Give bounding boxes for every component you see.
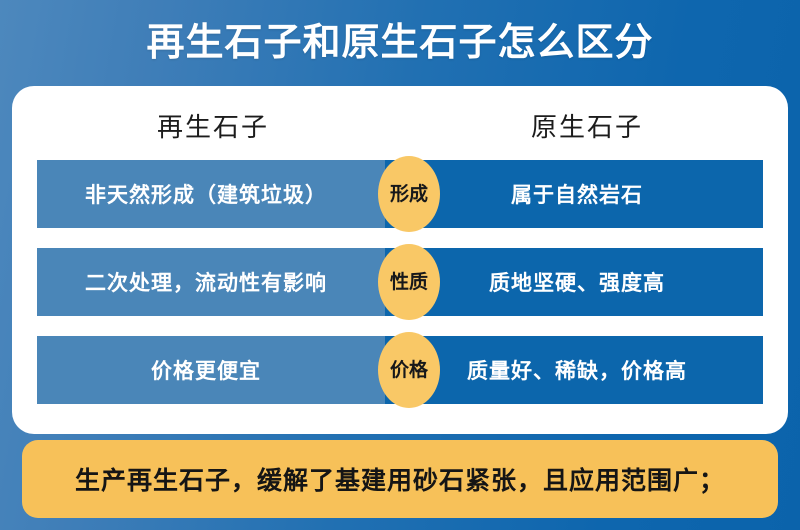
row-category-badge: 性质 <box>378 244 440 320</box>
row-category-badge: 价格 <box>378 332 440 408</box>
row-left-value: 价格更便宜 <box>37 336 385 404</box>
row-right-value: 质量好、稀缺，价格高 <box>385 336 763 404</box>
infographic-poster: 再生石子和原生石子怎么区分 再生石子 原生石子 非天然形成（建筑垃圾） 形成 属… <box>0 0 800 530</box>
row-right-value: 属于自然岩石 <box>385 160 763 228</box>
row-category-label: 价格 <box>390 361 428 380</box>
poster-title-bar: 再生石子和原生石子怎么区分 <box>0 12 800 74</box>
row-category-label: 性质 <box>390 273 428 292</box>
comparison-column-headers: 再生石子 原生石子 <box>12 100 788 150</box>
row-category-label: 形成 <box>390 185 428 204</box>
row-right-value: 质地坚硬、强度高 <box>385 248 763 316</box>
footer-banner-text: 生产再生石子，缓解了基建用砂石紧张，且应用范围广； <box>75 461 725 497</box>
row-left-value: 非天然形成（建筑垃圾） <box>37 160 385 228</box>
comparison-card: 再生石子 原生石子 非天然形成（建筑垃圾） 形成 属于自然岩石 二次处理，流动性… <box>12 86 788 434</box>
column-header-recycled: 再生石子 <box>38 100 388 150</box>
comparison-row: 非天然形成（建筑垃圾） 形成 属于自然岩石 <box>37 160 763 228</box>
comparison-row: 价格更便宜 价格 质量好、稀缺，价格高 <box>37 336 763 404</box>
row-left-value: 二次处理，流动性有影响 <box>37 248 385 316</box>
footer-banner: 生产再生石子，缓解了基建用砂石紧张，且应用范围广； <box>22 440 778 518</box>
row-category-badge: 形成 <box>378 156 440 232</box>
comparison-row: 二次处理，流动性有影响 性质 质地坚硬、强度高 <box>37 248 763 316</box>
page-title: 再生石子和原生石子怎么区分 <box>146 24 653 62</box>
column-header-natural: 原生石子 <box>412 100 762 150</box>
